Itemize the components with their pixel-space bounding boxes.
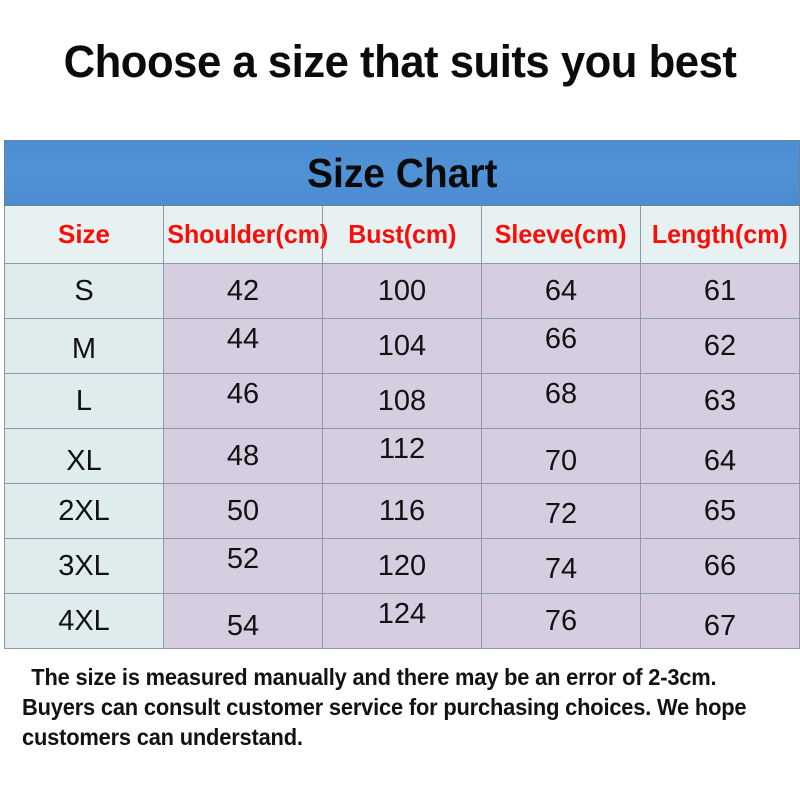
cell-bust: 116 [323, 484, 482, 539]
cell-bust: 120 [323, 539, 482, 594]
column-header-length-label: Length(cm) [652, 219, 788, 250]
chart-banner-row: Size Chart [5, 141, 800, 206]
table-row: 4XL 54 124 76 67 [5, 594, 800, 649]
cell-sleeve: 66 [482, 319, 641, 374]
column-header-shoulder: Shoulder(cm) [164, 206, 323, 264]
disclaimer-line-3: customers can understand. [22, 722, 731, 752]
size-chart-page: Choose a size that suits you best Size C… [0, 0, 800, 800]
chart-banner-title: Size Chart [307, 150, 497, 197]
cell-sleeve: 64 [482, 264, 641, 319]
table-row: 2XL 50 116 72 65 [5, 484, 800, 539]
cell-length: 64 [641, 429, 800, 484]
cell-sleeve: 76 [482, 594, 641, 649]
cell-size: 2XL [5, 484, 164, 539]
cell-shoulder: 54 [164, 594, 323, 649]
page-title: Choose a size that suits you best [12, 36, 788, 88]
cell-length: 66 [641, 539, 800, 594]
column-header-size-label: Size [58, 219, 110, 250]
cell-size: M [5, 319, 164, 374]
chart-banner-cell: Size Chart [5, 141, 800, 206]
column-header-sleeve: Sleeve(cm) [482, 206, 641, 264]
cell-length: 67 [641, 594, 800, 649]
cell-bust: 124 [323, 594, 482, 649]
cell-sleeve: 74 [482, 539, 641, 594]
table-row: L 46 108 68 63 [5, 374, 800, 429]
column-header-bust-label: Bust(cm) [348, 219, 456, 250]
cell-sleeve: 70 [482, 429, 641, 484]
disclaimer-note: The size is measured manually and there … [22, 662, 784, 752]
cell-shoulder: 52 [164, 539, 323, 594]
cell-sleeve: 68 [482, 374, 641, 429]
cell-shoulder: 48 [164, 429, 323, 484]
cell-bust: 104 [323, 319, 482, 374]
table-row: 3XL 52 120 74 66 [5, 539, 800, 594]
cell-shoulder: 44 [164, 319, 323, 374]
cell-length: 63 [641, 374, 800, 429]
table-header-row: Size Shoulder(cm) Bust(cm) Sleeve(cm) Le… [5, 206, 800, 264]
column-header-size: Size [5, 206, 164, 264]
cell-length: 61 [641, 264, 800, 319]
cell-size: 3XL [5, 539, 164, 594]
table-row: S 42 100 64 61 [5, 264, 800, 319]
table-row: M 44 104 66 62 [5, 319, 800, 374]
cell-shoulder: 42 [164, 264, 323, 319]
cell-length: 62 [641, 319, 800, 374]
cell-bust: 108 [323, 374, 482, 429]
cell-length: 65 [641, 484, 800, 539]
column-header-shoulder-label: Shoulder(cm) [167, 219, 328, 250]
cell-size: XL [5, 429, 164, 484]
cell-bust: 112 [323, 429, 482, 484]
cell-size: L [5, 374, 164, 429]
table-row: XL 48 112 70 64 [5, 429, 800, 484]
column-header-bust: Bust(cm) [323, 206, 482, 264]
disclaimer-line-2: Buyers can consult customer service for … [22, 692, 731, 722]
cell-size: 4XL [5, 594, 164, 649]
cell-sleeve: 72 [482, 484, 641, 539]
size-chart-table: Size Chart Size Shoulder(cm) Bust(cm) Sl… [4, 140, 800, 649]
column-header-sleeve-label: Sleeve(cm) [495, 219, 627, 250]
column-header-length: Length(cm) [641, 206, 800, 264]
cell-shoulder: 50 [164, 484, 323, 539]
cell-shoulder: 46 [164, 374, 323, 429]
cell-bust: 100 [323, 264, 482, 319]
cell-size: S [5, 264, 164, 319]
disclaimer-line-1: The size is measured manually and there … [22, 662, 731, 692]
